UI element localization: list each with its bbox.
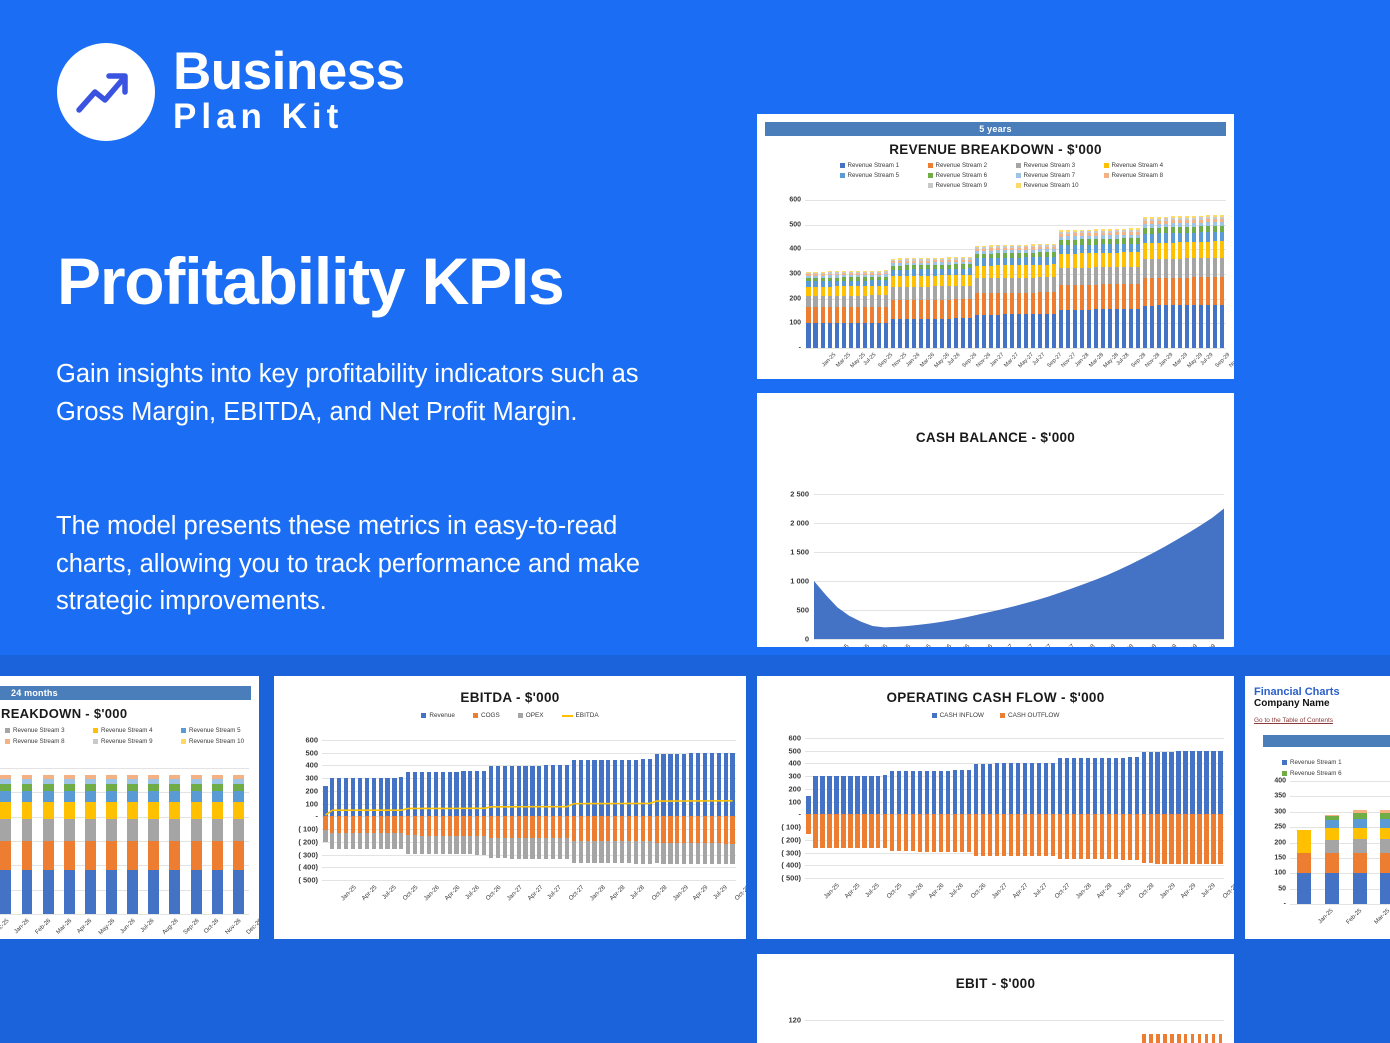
legend-label: Revenue Stream 1 bbox=[1290, 759, 1342, 766]
yaxis-ebit: 12010080 bbox=[757, 1020, 801, 1043]
bar-segment bbox=[891, 276, 895, 287]
bar-segment bbox=[821, 296, 825, 307]
bar bbox=[897, 771, 901, 814]
plot-ebitda bbox=[322, 740, 736, 880]
bar bbox=[1044, 814, 1048, 856]
bar bbox=[1142, 814, 1146, 863]
bar bbox=[967, 814, 971, 852]
bar bbox=[1086, 814, 1090, 859]
bar bbox=[1128, 814, 1132, 859]
bar-segment bbox=[85, 841, 96, 870]
bar bbox=[1107, 814, 1111, 859]
legend-swatch bbox=[932, 713, 937, 718]
bar-segment bbox=[1010, 265, 1014, 278]
bar bbox=[1149, 752, 1153, 814]
bar-segment bbox=[1003, 265, 1007, 278]
x-axis-tick: Sep-29 bbox=[1214, 352, 1231, 369]
bar-segment bbox=[127, 819, 138, 840]
bar-column bbox=[122, 768, 143, 914]
bar-column bbox=[1072, 200, 1079, 348]
bar-column bbox=[959, 200, 966, 348]
legend-swatch bbox=[1016, 163, 1021, 168]
y-axis-tick: 300 bbox=[789, 271, 801, 278]
y-axis-tick: 2 000 bbox=[790, 519, 809, 528]
bar bbox=[1121, 814, 1125, 859]
bar bbox=[1016, 763, 1020, 814]
bar bbox=[1058, 758, 1062, 814]
bar-segment bbox=[975, 293, 979, 314]
bar-segment bbox=[1101, 309, 1105, 348]
bar-segment bbox=[22, 802, 33, 820]
legend-item: Revenue Stream 8 bbox=[5, 738, 73, 745]
bar-segment bbox=[849, 323, 853, 348]
bar-segment bbox=[856, 307, 860, 323]
bar bbox=[960, 814, 964, 852]
bar-column bbox=[1374, 781, 1390, 904]
bar-segment bbox=[1171, 233, 1175, 242]
x-axis-tick: Jan-27 bbox=[996, 643, 1015, 647]
legend-swatch bbox=[5, 728, 10, 733]
bar-segment bbox=[1101, 267, 1105, 284]
bar-segment bbox=[1380, 828, 1390, 840]
bar bbox=[1176, 814, 1180, 863]
legend-item: Revenue Stream 9 bbox=[93, 738, 161, 745]
bar-segment bbox=[127, 791, 138, 802]
bar-segment bbox=[912, 319, 916, 348]
x-axis-tick: Mar-26 bbox=[56, 918, 74, 936]
legend-label: Revenue Stream 5 bbox=[189, 727, 241, 734]
bar-column bbox=[1001, 200, 1008, 348]
y-axis-tick: 400 bbox=[789, 246, 801, 253]
bar bbox=[841, 814, 845, 847]
bar bbox=[1044, 763, 1048, 814]
x-axis-tick: Oct-26 bbox=[970, 882, 988, 900]
bar-segment bbox=[1031, 278, 1035, 293]
xaxis-revenue-24m: Nov-25Dec-25Jan-26Feb-26Mar-26Apr-26May-… bbox=[0, 916, 249, 939]
x-axis-tick: Apr-26 bbox=[934, 643, 953, 647]
bar-segment bbox=[835, 307, 839, 323]
bar-segment bbox=[1206, 277, 1210, 305]
bar-segment bbox=[0, 870, 11, 914]
y-axis-tick: - bbox=[316, 812, 319, 821]
bar-segment bbox=[1024, 265, 1028, 278]
bar-segment bbox=[947, 275, 951, 286]
bar-segment bbox=[64, 791, 75, 802]
bar-segment bbox=[1052, 314, 1056, 348]
bar-segment bbox=[961, 318, 965, 348]
bar bbox=[911, 771, 915, 814]
legend-swatch bbox=[1104, 163, 1109, 168]
x-axis-tick: Jan-25 bbox=[823, 882, 841, 900]
gridline bbox=[805, 751, 1224, 752]
x-axis-tick: Jan-25 bbox=[832, 643, 851, 647]
bar bbox=[1204, 814, 1208, 864]
bar bbox=[1100, 814, 1104, 859]
bar-column bbox=[0, 768, 16, 914]
x-axis-tick: Oct-29 bbox=[733, 884, 746, 902]
bar-segment bbox=[106, 802, 117, 820]
bar bbox=[827, 776, 831, 814]
bar-segment bbox=[1150, 259, 1154, 278]
bar-segment bbox=[1094, 267, 1098, 284]
bar bbox=[1072, 758, 1076, 814]
bar-segment bbox=[968, 275, 972, 286]
bar-segment bbox=[870, 295, 874, 306]
xaxis-revenue-5y: Jan-25Mar-25May-25Jul-25Sep-25Nov-25Jan-… bbox=[805, 350, 1226, 379]
bar bbox=[932, 814, 936, 851]
chart-title-ebitda: EBITDA - $'000 bbox=[274, 690, 746, 705]
bar-segment bbox=[85, 791, 96, 802]
bar bbox=[1190, 751, 1194, 814]
bar-segment bbox=[905, 276, 909, 287]
bar bbox=[946, 814, 950, 851]
bar-segment bbox=[884, 323, 888, 348]
y-axis-tick: ( 300) bbox=[298, 850, 318, 859]
y-axis-tick: 0 bbox=[805, 635, 809, 644]
bar-segment bbox=[968, 318, 972, 348]
bar-segment bbox=[1185, 242, 1189, 258]
bar-segment bbox=[1129, 244, 1133, 253]
bar-column bbox=[1093, 200, 1100, 348]
bar-segment bbox=[1080, 285, 1084, 310]
bar-column bbox=[868, 200, 875, 348]
y-axis-tick: - bbox=[799, 810, 802, 819]
bar-segment bbox=[1353, 819, 1368, 828]
card-cash-balance[interactable]: CASH BALANCE - $'000 2 5002 0001 5001 00… bbox=[757, 393, 1234, 647]
bar-segment bbox=[989, 266, 993, 279]
legend-item: Revenue Stream 10 bbox=[1016, 182, 1090, 189]
legend-swatch bbox=[1016, 173, 1021, 178]
x-axis-tick: Sep-25 bbox=[877, 352, 894, 369]
bar-segment bbox=[1129, 309, 1133, 348]
bar-segment bbox=[1143, 259, 1147, 278]
bar-segment bbox=[1199, 277, 1203, 305]
chart-title-revenue-24m: REAKDOWN - $'000 bbox=[0, 706, 259, 721]
legend-swatch bbox=[1016, 183, 1021, 188]
bar-segment bbox=[1353, 828, 1368, 840]
bar bbox=[1211, 814, 1215, 864]
bar-segment bbox=[1353, 853, 1368, 872]
bar-segment bbox=[0, 802, 11, 820]
bar-column bbox=[1177, 200, 1184, 348]
y-axis-tick: 400 bbox=[305, 761, 318, 770]
bar bbox=[911, 814, 915, 851]
legend-swatch bbox=[421, 713, 426, 718]
bar-segment bbox=[43, 870, 54, 914]
bar bbox=[925, 814, 929, 851]
bar bbox=[904, 771, 908, 814]
bar-segment bbox=[961, 275, 965, 286]
bar-column bbox=[812, 200, 819, 348]
bar-segment bbox=[1220, 305, 1224, 348]
bar-segment bbox=[891, 319, 895, 348]
legend-item: EBITDA bbox=[562, 712, 599, 719]
bar-segment bbox=[1178, 242, 1182, 258]
bar-segment bbox=[148, 791, 159, 802]
bar-segment bbox=[1220, 277, 1224, 305]
legend-swatch bbox=[1282, 771, 1287, 776]
bar-column bbox=[1184, 200, 1191, 348]
bar-segment bbox=[22, 791, 33, 802]
bar-segment bbox=[1115, 267, 1119, 284]
bar-segment bbox=[1080, 253, 1084, 267]
bar-segment bbox=[1150, 278, 1154, 305]
gridline bbox=[805, 865, 1224, 866]
legend-swatch bbox=[562, 715, 573, 717]
bar-segment bbox=[1024, 293, 1028, 315]
x-axis-tick: Apr-29 bbox=[1180, 643, 1199, 647]
bar bbox=[1155, 752, 1159, 815]
bar-column bbox=[1205, 200, 1212, 348]
x-axis-tick: Jun-26 bbox=[119, 918, 136, 935]
legend-swatch bbox=[840, 173, 845, 178]
bar-segment bbox=[169, 841, 180, 870]
bar-segment bbox=[806, 287, 810, 296]
bar-segment bbox=[233, 841, 244, 870]
chart-title-ebit: EBIT - $'000 bbox=[757, 976, 1234, 991]
band-financial bbox=[1263, 735, 1390, 747]
bar-segment bbox=[148, 819, 159, 840]
bar bbox=[1079, 814, 1083, 859]
y-axis-tick: - bbox=[1284, 901, 1286, 908]
bar-segment bbox=[1122, 244, 1126, 253]
bar-segment bbox=[1136, 284, 1140, 309]
bar-segment bbox=[1073, 268, 1077, 285]
bar bbox=[869, 776, 873, 815]
y-axis-tick: ( 400) bbox=[298, 863, 318, 872]
bar-segment bbox=[127, 784, 138, 791]
bar-column bbox=[1107, 200, 1114, 348]
bar-segment bbox=[1220, 241, 1224, 257]
bar-column bbox=[101, 768, 122, 914]
bar-segment bbox=[884, 307, 888, 323]
bar-segment bbox=[828, 323, 832, 348]
bar-column bbox=[966, 200, 973, 348]
legend-label: Revenue Stream 3 bbox=[1024, 162, 1076, 169]
legend-item: OPEX bbox=[518, 712, 544, 719]
bar-segment bbox=[1010, 314, 1014, 348]
bar bbox=[834, 814, 838, 847]
gridline bbox=[805, 1020, 1224, 1021]
bar-segment bbox=[877, 307, 881, 323]
bar-segment bbox=[1353, 873, 1368, 904]
bar-column bbox=[994, 200, 1001, 348]
gridline bbox=[805, 814, 1224, 815]
y-axis-tick: 350 bbox=[1274, 793, 1286, 800]
card-ebitda[interactable]: EBITDA - $'000 RevenueCOGSOPEXEBITDA 600… bbox=[274, 676, 746, 939]
legend-label: Revenue Stream 10 bbox=[1024, 182, 1079, 189]
legend-swatch bbox=[518, 713, 523, 718]
bar-segment bbox=[233, 870, 244, 914]
bar-column bbox=[847, 200, 854, 348]
x-axis-tick: Nov-26 bbox=[976, 352, 993, 369]
legend-label: Revenue Stream 8 bbox=[13, 738, 65, 745]
bar-segment bbox=[821, 287, 825, 296]
bar-segment bbox=[1087, 285, 1091, 310]
bar-segment bbox=[863, 286, 867, 295]
x-axis-tick: Jul-25 bbox=[872, 643, 889, 647]
gridline bbox=[1290, 904, 1390, 905]
bar-segment bbox=[1164, 243, 1168, 259]
bar-segment bbox=[1087, 310, 1091, 348]
legend-item: Revenue Stream 8 bbox=[1104, 172, 1178, 179]
bar-segment bbox=[877, 286, 881, 296]
card-ebit[interactable]: EBIT - $'000 12010080 bbox=[757, 954, 1234, 1043]
bar-segment bbox=[1199, 242, 1203, 258]
bar-segment bbox=[828, 287, 832, 296]
bar-segment bbox=[835, 286, 839, 295]
bar bbox=[883, 814, 887, 848]
bar-segment bbox=[22, 819, 33, 840]
y-axis-tick: 100 bbox=[305, 799, 318, 808]
bar bbox=[1176, 751, 1180, 814]
bar-segment bbox=[233, 819, 244, 840]
bar-segment bbox=[821, 307, 825, 323]
bar-segment bbox=[863, 296, 867, 307]
bar-segment bbox=[996, 315, 1000, 348]
y-axis-tick: 300 bbox=[305, 774, 318, 783]
legend-label: Revenue Stream 6 bbox=[1290, 770, 1342, 777]
legend-revenue-24m: Revenue Stream 3Revenue Stream 4Revenue … bbox=[5, 727, 251, 745]
bar-segment bbox=[912, 300, 916, 319]
bar-segment bbox=[828, 307, 832, 323]
legend-item: Revenue Stream 6 bbox=[1282, 770, 1364, 777]
bar-segment bbox=[996, 278, 1000, 293]
bar-segment bbox=[1101, 253, 1105, 267]
x-axis-tick: Apr-26 bbox=[77, 918, 94, 935]
bar-segment bbox=[127, 870, 138, 914]
bar-segment bbox=[919, 276, 923, 287]
bar-segment bbox=[849, 296, 853, 307]
bar-column bbox=[1100, 200, 1107, 348]
bar-segment bbox=[863, 307, 867, 323]
bar bbox=[862, 814, 866, 848]
bar-segment bbox=[982, 258, 986, 265]
bar bbox=[841, 776, 845, 815]
bar bbox=[1169, 752, 1173, 815]
legend-item: Revenue Stream 6 bbox=[928, 172, 1002, 179]
bar-segment bbox=[947, 300, 951, 319]
x-axis-tick: Oct-26 bbox=[975, 643, 994, 647]
bar-segment bbox=[1073, 285, 1077, 310]
bar-segment bbox=[891, 300, 895, 319]
bar-segment bbox=[947, 319, 951, 348]
bar-segment bbox=[1380, 819, 1390, 828]
xaxis-cash-balance: Jan-25Apr-25Jul-25Oct-25Jan-26Apr-26Jul-… bbox=[814, 641, 1224, 647]
bar-segment bbox=[1185, 305, 1189, 348]
bar bbox=[1121, 758, 1125, 815]
bar-segment bbox=[191, 841, 202, 870]
bar-segment bbox=[856, 286, 860, 295]
y-axis-tick: ( 300) bbox=[781, 848, 801, 857]
bar-segment bbox=[1003, 314, 1007, 348]
x-axis-tick: Apr-28 bbox=[609, 884, 627, 902]
bar-segment bbox=[1094, 245, 1098, 253]
gridline bbox=[805, 789, 1224, 790]
x-axis-tick: Oct-27 bbox=[567, 884, 585, 902]
y-axis-tick: 2 500 bbox=[790, 490, 809, 499]
bar-segment bbox=[1199, 258, 1203, 277]
bar-segment bbox=[996, 265, 1000, 278]
bar bbox=[1183, 814, 1187, 863]
bar-column bbox=[917, 200, 924, 348]
bar-segment bbox=[933, 300, 937, 319]
bar-segment bbox=[1059, 310, 1063, 348]
bar bbox=[939, 814, 943, 851]
bar bbox=[890, 771, 894, 814]
bar bbox=[876, 814, 880, 848]
x-axis-tick: Oct-27 bbox=[1053, 882, 1071, 900]
bar-segment bbox=[127, 802, 138, 820]
bar bbox=[988, 764, 992, 815]
bar-segment bbox=[1206, 305, 1210, 348]
x-axis-tick: Jul-28 bbox=[629, 884, 646, 901]
bar bbox=[813, 814, 817, 847]
bar-segment bbox=[1010, 258, 1014, 265]
bar-segment bbox=[148, 841, 159, 870]
plot-revenue-5y bbox=[805, 200, 1226, 348]
card-financial-charts[interactable]: Financial Charts Company Name Go to the … bbox=[1245, 676, 1390, 939]
x-axis-tick: Apr-29 bbox=[1179, 882, 1197, 900]
bar-segment bbox=[64, 819, 75, 840]
bar-segment bbox=[212, 841, 223, 870]
bar-column bbox=[973, 200, 980, 348]
bar-column bbox=[16, 768, 37, 914]
bar-column bbox=[228, 768, 249, 914]
y-axis-tick: 1 500 bbox=[790, 548, 809, 557]
bar-segment bbox=[1213, 305, 1217, 348]
legend-label: Revenue Stream 9 bbox=[101, 738, 153, 745]
bar-segment bbox=[1171, 305, 1175, 348]
bar-segment bbox=[1206, 258, 1210, 277]
bar-segment bbox=[64, 841, 75, 870]
x-axis-tick: Jul-26 bbox=[139, 918, 155, 934]
legend-swatch bbox=[181, 739, 186, 744]
bar bbox=[813, 776, 817, 814]
bar-column bbox=[207, 768, 228, 914]
card-revenue-breakdown-24m[interactable]: 24 months REAKDOWN - $'000 Revenue Strea… bbox=[0, 676, 259, 939]
bar-segment bbox=[989, 278, 993, 293]
legend-label: COGS bbox=[481, 712, 500, 719]
bar-column bbox=[882, 200, 889, 348]
bar bbox=[1093, 814, 1097, 859]
y-axis-tick: 400 bbox=[1274, 778, 1286, 785]
x-axis-tick: Nov-28 bbox=[1144, 352, 1161, 369]
bar-segment bbox=[1052, 257, 1056, 265]
x-axis-tick: Oct-27 bbox=[1057, 643, 1076, 647]
card-operating-cash-flow[interactable]: OPERATING CASH FLOW - $'000 CASH INFLOWC… bbox=[757, 676, 1234, 939]
table-of-contents-link[interactable]: Go to the Table of Contents bbox=[1254, 717, 1333, 724]
y-axis-tick: 200 bbox=[788, 784, 801, 793]
card-revenue-breakdown-5y[interactable]: 5 years REVENUE BREAKDOWN - $'000 Revenu… bbox=[757, 114, 1234, 379]
bar-segment bbox=[1129, 252, 1133, 267]
bar-segment bbox=[856, 296, 860, 307]
bar-column bbox=[1170, 200, 1177, 348]
bar-segment bbox=[898, 319, 902, 348]
bar-column bbox=[903, 200, 910, 348]
bar-segment bbox=[1017, 265, 1021, 278]
bar-segment bbox=[926, 287, 930, 300]
bar bbox=[1198, 1034, 1202, 1043]
bar-segment bbox=[842, 307, 846, 323]
y-axis-tick: ( 500) bbox=[781, 874, 801, 883]
bar-column bbox=[861, 200, 868, 348]
x-axis-tick: Oct-28 bbox=[1137, 882, 1155, 900]
bar bbox=[1211, 751, 1215, 814]
bar bbox=[1100, 758, 1104, 815]
bar bbox=[862, 776, 866, 815]
gridline bbox=[805, 853, 1224, 854]
